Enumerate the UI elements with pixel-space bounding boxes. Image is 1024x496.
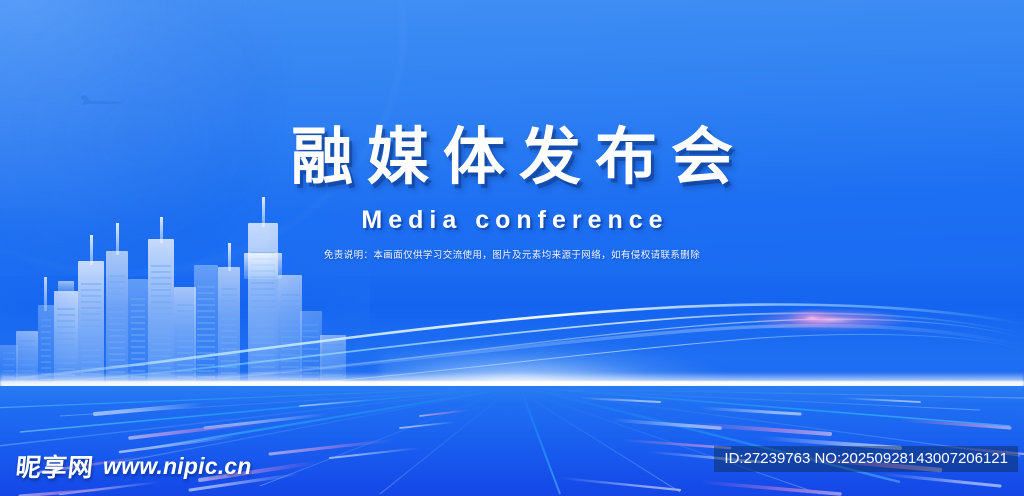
watermark-brand: 昵享网 [14, 448, 96, 484]
page-subtitle: Media conference [0, 206, 1024, 235]
airplane-silhouette [78, 92, 124, 108]
meta-id-badge: ID:27239763 NO:20250928143007206121 [714, 446, 1018, 472]
horizon-core-line [0, 381, 1024, 385]
watermark-url: www.nipic.cn [103, 453, 252, 480]
watermark: 昵享网 www.nipic.cn [16, 448, 252, 484]
title-block: 融媒体发布会 Media conference 免责说明：本画面仅供学习交流使用… [0, 126, 1024, 261]
page-title: 融媒体发布会 [0, 126, 1024, 188]
poster-canvas: 融媒体发布会 Media conference 免责说明：本画面仅供学习交流使用… [0, 0, 1024, 496]
disclaimer-text: 免责说明：本画面仅供学习交流使用，图片及元素均来源于网络，如有侵权请联系删除 [0, 247, 1024, 261]
